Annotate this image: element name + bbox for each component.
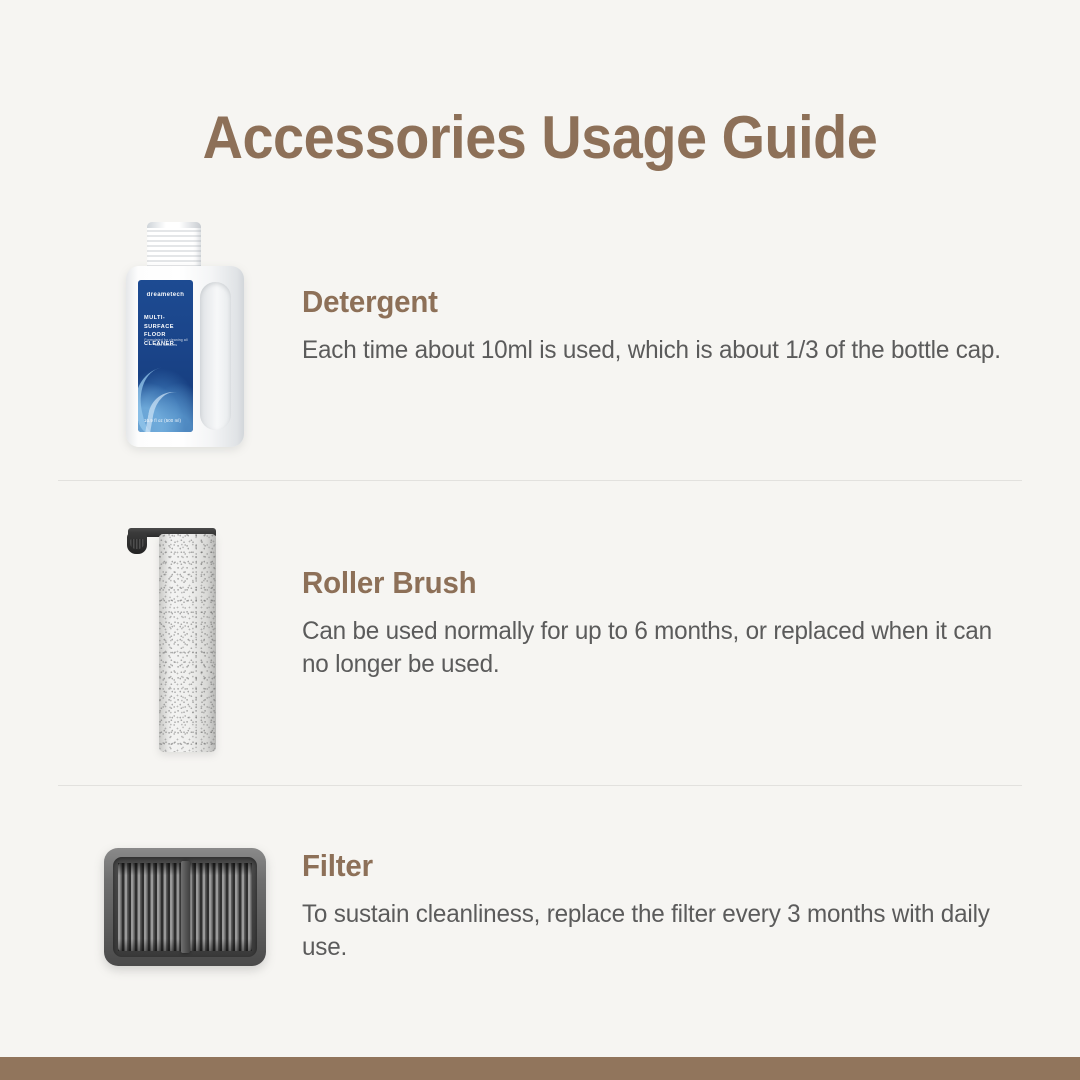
detergent-bottle: dreametech MULTI-SURFACE FLOOR CLEANER F… [126,222,244,447]
detergent-bottle-illustration: dreametech MULTI-SURFACE FLOOR CLEANER F… [0,212,300,452]
section-detergent: dreametech MULTI-SURFACE FLOOR CLEANER F… [0,212,1080,452]
roller-brush-illustration [0,505,300,765]
filter-center-divider [181,861,190,953]
filter-illustration [0,840,300,990]
section-body-detergent: Each time about 10ml is used, which is a… [302,334,1010,367]
filter-inner-well [113,857,257,957]
label-volume: 16.9 fl oz (500 ml) [144,418,181,423]
section-divider [58,480,1022,481]
label-product-line-1: MULTI-SURFACE [144,314,189,331]
section-body-roller-brush: Can be used normally for up to 6 months,… [302,615,1010,680]
bottle-body: dreametech MULTI-SURFACE FLOOR CLEANER F… [126,266,244,447]
section-body-filter: To sustain cleanliness, replace the filt… [302,898,1010,963]
bottle-grip [200,282,231,430]
section-heading-filter: Filter [302,848,1005,884]
label-brand-name: dreametech [138,292,193,298]
roller-knob-icon [127,533,147,554]
roller-tube [159,534,216,752]
page-title: Accessories Usage Guide [38,103,1042,172]
section-divider [58,785,1022,786]
roller-text-block: Roller Brush Can be used normally for up… [302,565,1042,680]
filter-text-block: Filter To sustain cleanliness, replace t… [302,848,1042,963]
detergent-text-block: Detergent Each time about 10ml is used, … [302,284,1042,367]
accessories-usage-guide-page: Accessories Usage Guide dreametech MULTI… [0,0,1080,1080]
section-heading-detergent: Detergent [302,284,1005,320]
filter-cartridge [104,848,266,966]
roller-brush [120,515,250,755]
bottom-accent-bar [0,1057,1080,1080]
label-subtext: Formulated for cleaning all hard surface… [144,338,188,348]
section-roller-brush: Roller Brush Can be used normally for up… [0,505,1080,765]
section-heading-roller-brush: Roller Brush [302,565,1005,601]
section-filter: Filter To sustain cleanliness, replace t… [0,840,1080,990]
bottle-label: dreametech MULTI-SURFACE FLOOR CLEANER F… [138,280,193,432]
bottle-cap-icon [147,222,201,270]
